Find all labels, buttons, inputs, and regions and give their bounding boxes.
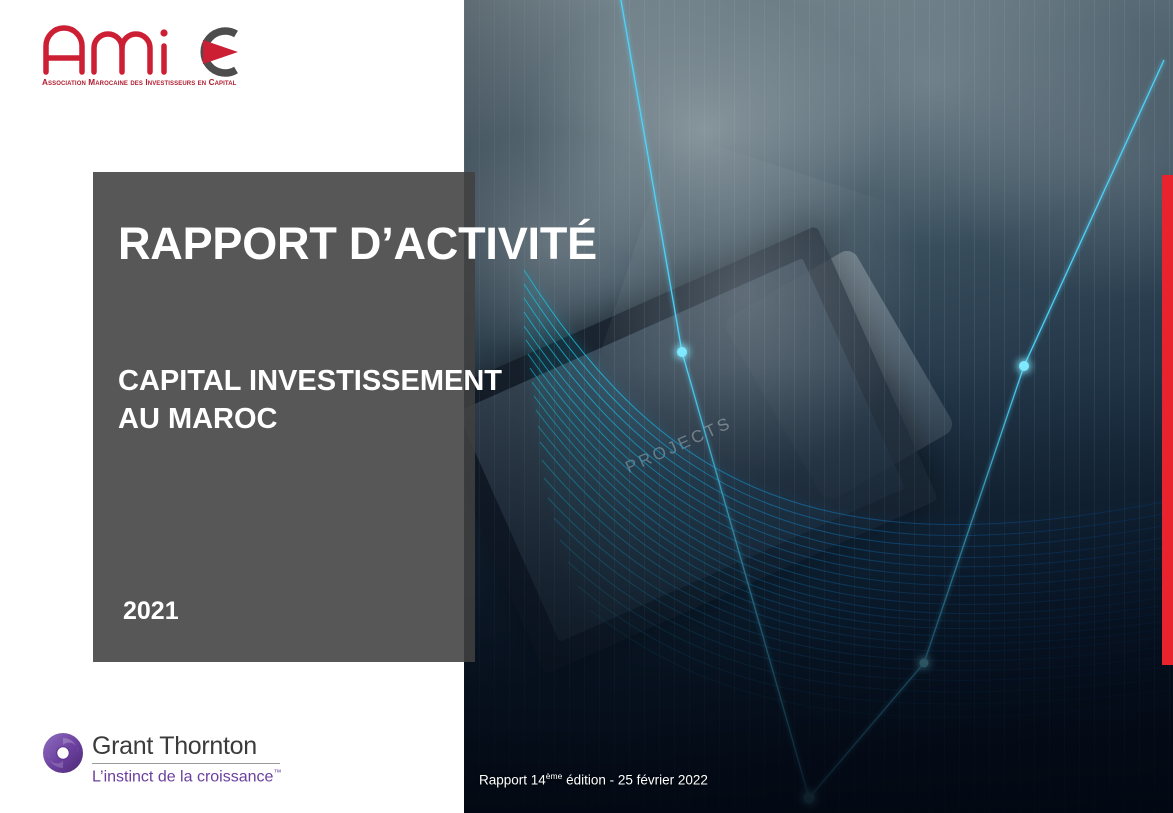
amic-logo: Association Marocaine des Investisseurs … (40, 20, 270, 100)
amic-logo-mark (40, 20, 270, 78)
trademark-symbol: ™ (273, 768, 281, 777)
cover-page: PROJECTS (0, 0, 1173, 813)
caption-suffix: édition - 25 février 2022 (562, 773, 708, 788)
subtitle-line-2: AU MAROC (118, 400, 502, 438)
hero-image: PROJECTS (464, 0, 1173, 813)
page-subtitle: CAPITAL INVESTISSEMENT AU MAROC (118, 362, 502, 439)
caption-prefix: Rapport 14 (479, 773, 546, 788)
grant-thornton-divider (92, 763, 280, 764)
grant-thornton-name: Grant Thornton (92, 732, 257, 761)
grant-thornton-swirl-icon (40, 730, 86, 776)
report-year: 2021 (123, 597, 179, 626)
grant-thornton-logo: Grant Thornton L’instinct de la croissan… (40, 730, 280, 798)
report-caption: Rapport 14ème édition - 25 février 2022 (479, 771, 708, 788)
page-title: RAPPORT D’ACTIVITÉ (118, 218, 597, 270)
grant-thornton-slogan-text: L’instinct de la croissance (92, 768, 273, 785)
caption-ordinal: ème (546, 771, 563, 781)
red-accent-bar (1162, 175, 1173, 665)
title-panel: RAPPORT D’ACTIVITÉ CAPITAL INVESTISSEMEN… (93, 172, 475, 662)
grant-thornton-slogan: L’instinct de la croissance™ (92, 768, 281, 786)
subtitle-line-1: CAPITAL INVESTISSEMENT (118, 362, 502, 400)
amic-tagline: Association Marocaine des Investisseurs … (42, 78, 268, 87)
